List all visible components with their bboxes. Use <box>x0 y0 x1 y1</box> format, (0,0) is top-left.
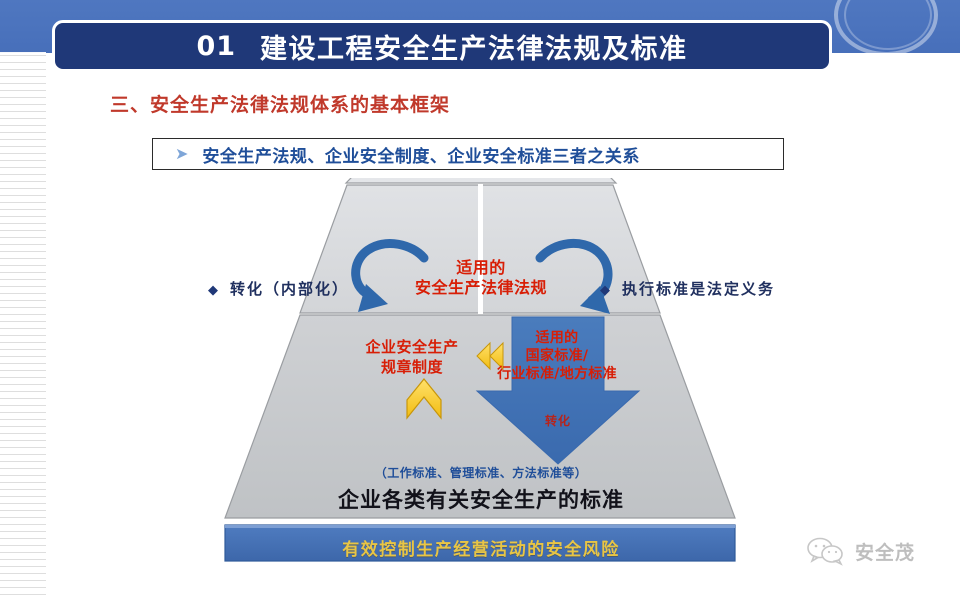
mid-right-line-1: 适用的 <box>497 330 617 348</box>
pyramid-mid-left-label: 企业安全生产 规章制度 <box>365 338 458 377</box>
slide-title-bar: 01 建设工程安全生产法律法规及标准 <box>52 20 832 72</box>
right-note-label: 执行标准是法定义务 <box>622 280 775 298</box>
watermark-label: 安全茂 <box>855 538 915 565</box>
mid-left-line-2: 规章制度 <box>365 358 458 378</box>
apex-line-2: 安全生产法律法规 <box>415 278 547 298</box>
right-note: ◆执行标准是法定义务 <box>600 278 775 299</box>
apex-line-1: 适用的 <box>415 258 547 278</box>
watermark: 安全茂 <box>806 536 915 566</box>
slide-number: 01 <box>196 31 236 62</box>
section-heading: 三、安全生产法律法规体系的基本框架 <box>110 90 450 117</box>
pyramid-graphic <box>0 178 960 578</box>
mid-right-line-3: 行业标准/地方标准 <box>497 366 617 384</box>
left-note-label: 转化（内部化） <box>230 280 349 298</box>
bottom-bar-label: 有效控制生产经营活动的安全风险 <box>342 535 620 560</box>
down-arrow-label: 转化 <box>545 412 571 429</box>
wechat-icon <box>806 536 846 566</box>
chevron-right-icon: ➤ <box>175 146 188 162</box>
left-note: ◆转化（内部化） <box>208 278 349 299</box>
slide-canvas: 01 建设工程安全生产法律法规及标准 三、安全生产法律法规体系的基本框架 ➤ 安… <box>0 0 960 601</box>
diamond-bullet-icon: ◆ <box>208 283 220 298</box>
bullet-box: ➤ 安全生产法规、企业安全制度、企业安全标准三者之关系 <box>152 138 784 170</box>
pyramid-base-sublabel: （工作标准、管理标准、方法标准等） <box>375 464 588 481</box>
pyramid-diagram: ◆转化（内部化） ◆执行标准是法定义务 适用的 安全生产法律法规 企业安全生产 … <box>0 178 960 578</box>
diamond-bullet-icon: ◆ <box>600 283 612 298</box>
pyramid-mid-right-label: 适用的 国家标准/ 行业标准/地方标准 <box>497 330 617 384</box>
pyramid-base-label: 企业各类有关安全生产的标准 <box>338 484 624 514</box>
mid-left-line-1: 企业安全生产 <box>365 338 458 358</box>
bullet-box-label: 安全生产法规、企业安全制度、企业安全标准三者之关系 <box>202 142 640 167</box>
page-title: 建设工程安全生产法律法规及标准 <box>260 27 688 66</box>
mid-right-line-2: 国家标准/ <box>497 348 617 366</box>
pyramid-apex-label: 适用的 安全生产法律法规 <box>415 258 547 299</box>
